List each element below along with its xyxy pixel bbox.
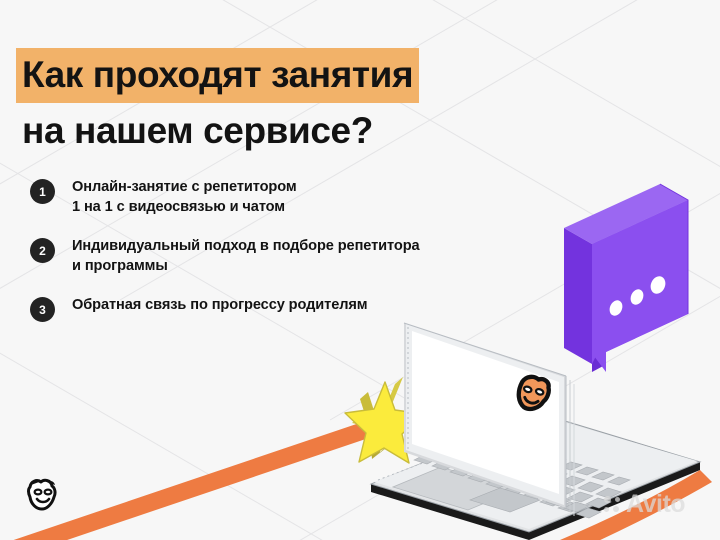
speech-bubble-typing: [564, 184, 688, 372]
list-item-line-2: и программы: [72, 257, 420, 277]
benefits-list: 1 Онлайн-занятие с репетитором 1 на 1 с …: [30, 178, 500, 342]
list-item-line-1: Онлайн-занятие с репетитором: [72, 179, 297, 195]
list-item-text: Онлайн-занятие с репетитором 1 на 1 с ви…: [72, 178, 297, 217]
page-title: Как проходят занятия на нашем сервисе?: [20, 48, 560, 156]
list-item: 1 Онлайн-занятие с репетитором 1 на 1 с …: [30, 178, 500, 217]
orange-ribbon-path: [0, 412, 712, 540]
list-item-line-1: Индивидуальный подход в подборе репетито…: [72, 238, 420, 254]
list-number-badge: 1: [30, 179, 55, 204]
list-item-line-2: 1 на 1 с видеосвязью и чатом: [72, 198, 297, 218]
avito-dots-icon: [604, 496, 621, 513]
list-item: 3 Обратная связь по прогрессу родителям: [30, 296, 500, 322]
avito-watermark: Avito: [604, 492, 685, 517]
poster-canvas: Как проходят занятия на нашем сервисе? 1…: [0, 0, 720, 540]
list-item-text: Обратная связь по прогрессу родителям: [72, 296, 368, 316]
list-number-badge: 2: [30, 238, 55, 263]
list-item-line-1: Обратная связь по прогрессу родителям: [72, 297, 368, 313]
list-item-text: Индивидуальный подход в подборе репетито…: [72, 237, 420, 276]
bear-mascot-logo-on-screen: [514, 373, 553, 414]
list-number-badge: 3: [30, 297, 55, 322]
avito-wordmark: Avito: [626, 492, 685, 517]
page-title-line-2: на нашем сервисе?: [16, 103, 560, 156]
list-item: 2 Индивидуальный подход в подборе репети…: [30, 237, 500, 276]
star-3d: [345, 377, 424, 463]
bear-mascot-logo: [26, 478, 60, 512]
page-title-line-1: Как проходят занятия: [16, 48, 419, 103]
